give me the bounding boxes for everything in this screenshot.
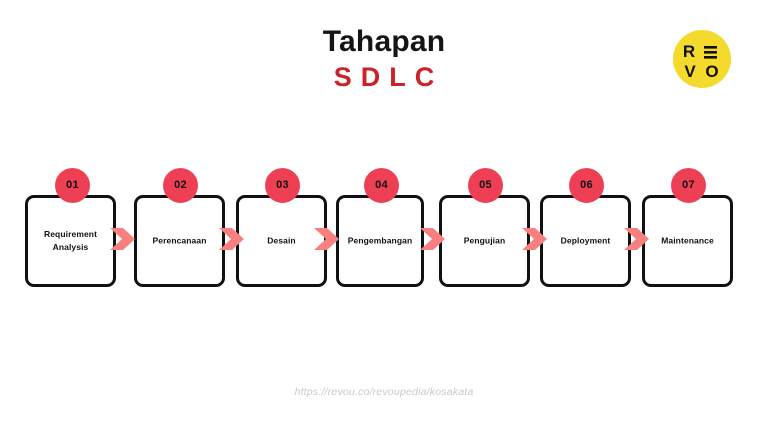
flow-step-number: 04 — [364, 168, 399, 203]
flow-step-06[interactable]: Deployment — [540, 195, 631, 287]
flow-step-badge-01: 01 — [55, 168, 90, 203]
footer-url: https://revou.co/revoupedia/kosakata — [0, 386, 768, 398]
logo-letter-v: V — [684, 62, 696, 81]
flow-arrow-03-04 — [314, 226, 340, 252]
flow-step-02[interactable]: Perencanaan — [134, 195, 225, 287]
flow-arrow-02-03 — [219, 226, 245, 252]
page-title: Tahapan — [0, 24, 768, 60]
flow-arrow-01-02 — [110, 226, 136, 252]
logo-letter-o: O — [705, 62, 718, 81]
flow-step-number: 01 — [55, 168, 90, 203]
flow-step-label: Pengujian — [442, 235, 527, 248]
flow-arrow-05-06 — [522, 226, 548, 252]
flow-step-label: Maintenance — [645, 235, 730, 248]
flow-step-badge-04: 04 — [364, 168, 399, 203]
flow-step-number: 07 — [671, 168, 706, 203]
page-header: Tahapan SDLC — [0, 24, 768, 94]
flow-step-label: RequirementAnalysis — [28, 228, 113, 254]
flow-step-05[interactable]: Pengujian — [439, 195, 530, 287]
flow-step-badge-05: 05 — [468, 168, 503, 203]
flow-step-label: Perencanaan — [137, 235, 222, 248]
flow-step-label: Desain — [239, 235, 324, 248]
flow-step-number: 02 — [163, 168, 198, 203]
flow-step-04[interactable]: Pengembangan — [336, 195, 424, 287]
logo-letter-r: R — [683, 42, 695, 61]
flow-step-number: 05 — [468, 168, 503, 203]
page-subtitle: SDLC — [0, 60, 768, 94]
flow-arrow-04-05 — [420, 226, 446, 252]
sdlc-flow-diagram: RequirementAnalysis 01 Perencanaan 02 De… — [0, 168, 768, 293]
revou-logo: R V O — [673, 30, 731, 88]
flow-step-number: 06 — [569, 168, 604, 203]
flow-step-01[interactable]: RequirementAnalysis — [25, 195, 116, 287]
flow-step-label: Pengembangan — [339, 235, 421, 248]
flow-step-badge-06: 06 — [569, 168, 604, 203]
flow-arrow-06-07 — [624, 226, 650, 252]
flow-step-07[interactable]: Maintenance — [642, 195, 733, 287]
logo-letter-e — [704, 46, 717, 59]
flow-step-badge-07: 07 — [671, 168, 706, 203]
flow-step-label: Deployment — [543, 235, 628, 248]
flow-step-number: 03 — [265, 168, 300, 203]
flow-step-badge-02: 02 — [163, 168, 198, 203]
flow-step-badge-03: 03 — [265, 168, 300, 203]
